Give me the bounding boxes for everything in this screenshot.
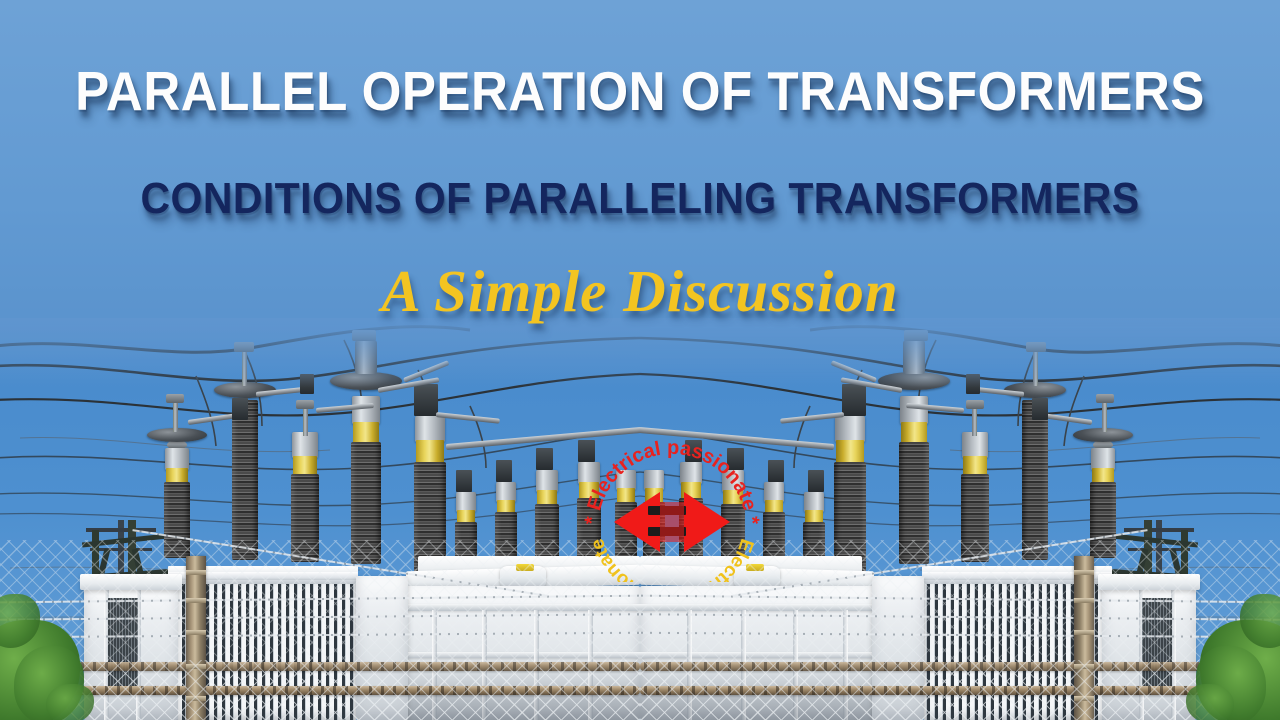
slide-canvas: * Electrical passionate * Electrical Pas… xyxy=(0,0,1280,720)
page-title-secondary: CONDITIONS OF PARALLELING TRANSFORMERS xyxy=(45,176,1235,222)
page-subtitle: A Simple Discussion xyxy=(0,258,1280,324)
title-text-layer: PARALLEL OPERATION OF TRANSFORMERS CONDI… xyxy=(0,0,1280,720)
page-title-primary: PARALLEL OPERATION OF TRANSFORMERS xyxy=(45,62,1235,120)
